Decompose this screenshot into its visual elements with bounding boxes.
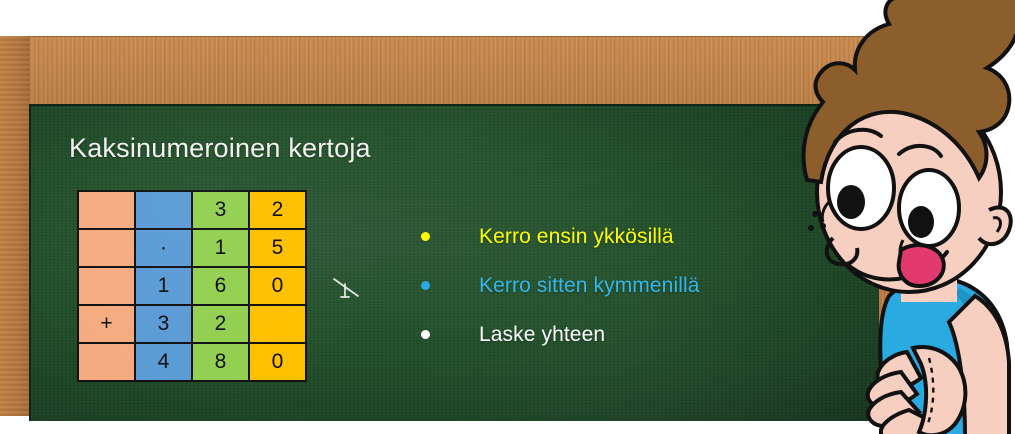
boy-arm — [949, 296, 1009, 434]
chalkboard-wooden-frame: Kaksinumeroinen kertoja 3 2 · 1 5 — [0, 36, 908, 416]
table-row: + 3 2 — [78, 305, 306, 343]
grid-cell-r2c3: 0 — [249, 267, 306, 305]
table-row: 3 2 — [78, 191, 306, 229]
grid-cell-r3c2: 2 — [192, 305, 249, 343]
mouse-pointer-icon — [332, 275, 360, 303]
table-row: 1 6 0 — [78, 267, 306, 305]
grid-cell-r3c1: 3 — [135, 305, 192, 343]
grid-cell-r2c2: 6 — [192, 267, 249, 305]
bullet-dot-icon — [421, 232, 430, 241]
page-title: Kaksinumeroinen kertoja — [69, 133, 371, 164]
boy-ear — [979, 207, 1011, 244]
table-row: 4 8 0 — [78, 343, 306, 381]
grid-cell-r2c1: 1 — [135, 267, 192, 305]
grid-cell-r0c3: 2 — [249, 191, 306, 229]
grid-cell-r1c3: 5 — [249, 229, 306, 267]
grid-cell-r1c1-multiply-sign: · — [135, 229, 192, 267]
list-item: Kerro ensin ykkösillä — [421, 212, 841, 261]
frame-left-grain — [0, 36, 30, 416]
instruction-bullet-list: Kerro ensin ykkösillä Kerro sitten kymme… — [421, 212, 841, 359]
grid-cell-r4c1: 4 — [135, 343, 192, 381]
grid-cell-r2c0 — [78, 267, 135, 305]
list-item: Kerro sitten kymmenillä — [421, 261, 841, 310]
bullet-label-2: Kerro sitten kymmenillä — [479, 274, 700, 298]
list-item: Laske yhteen — [421, 310, 841, 359]
chalkboard-surface: Kaksinumeroinen kertoja 3 2 · 1 5 — [29, 104, 879, 421]
grid-cell-r0c1 — [135, 191, 192, 229]
bullet-label-3: Laske yhteen — [479, 323, 605, 347]
grid-cell-r3c0-plus-sign: + — [78, 305, 135, 343]
boy-eye-right — [899, 170, 959, 246]
grid-cell-r4c0 — [78, 343, 135, 381]
bullet-dot-icon — [421, 330, 430, 339]
grid-cell-r3c3 — [249, 305, 306, 343]
bullet-label-1: Kerro ensin ykkösillä — [479, 225, 674, 249]
grid-cell-r1c2: 1 — [192, 229, 249, 267]
grid-cell-r0c2: 3 — [192, 191, 249, 229]
grid-cell-r4c2: 8 — [192, 343, 249, 381]
slide-canvas: Kaksinumeroinen kertoja 3 2 · 1 5 — [0, 0, 1015, 434]
table-row: · 1 5 — [78, 229, 306, 267]
bullet-dot-icon — [421, 281, 430, 290]
boy-shirt-shadow — [955, 288, 989, 332]
grid-cell-r0c0 — [78, 191, 135, 229]
boy-ear-inner — [993, 218, 1000, 232]
calculation-grid: 3 2 · 1 5 1 6 0 — [77, 190, 307, 382]
grid-cell-r4c3: 0 — [249, 343, 306, 381]
grid-cell-r1c0 — [78, 229, 135, 267]
boy-neck — [901, 264, 957, 302]
calculation-grid-body: 3 2 · 1 5 1 6 0 — [78, 191, 306, 381]
